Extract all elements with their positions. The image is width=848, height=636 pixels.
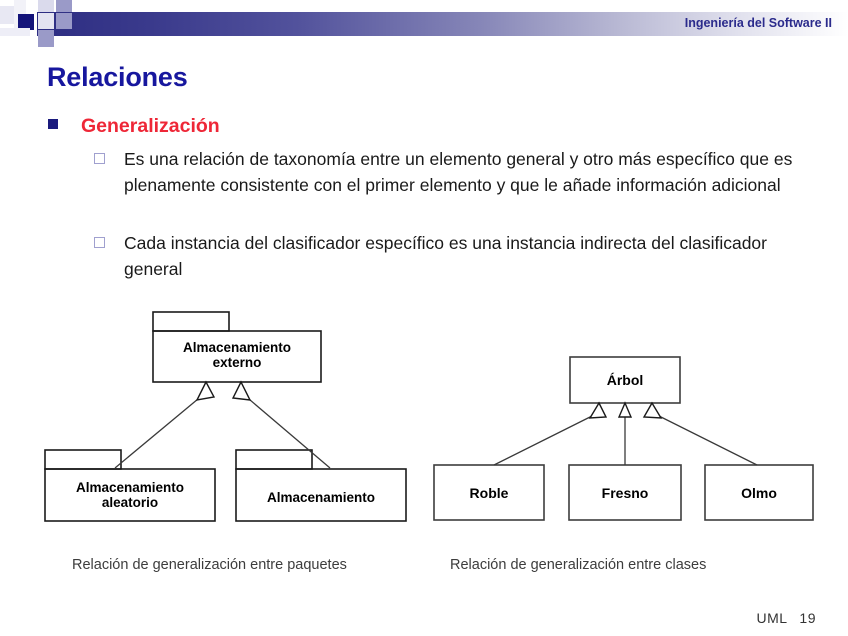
footer-label: UML <box>756 610 787 626</box>
page-title: Relaciones <box>47 62 188 93</box>
header-decor-square-7 <box>38 30 54 47</box>
diagrams-container: Almacenamiento externo Almacenamiento al… <box>0 290 848 590</box>
course-title: Ingeniería del Software II <box>685 16 832 30</box>
header-decor-square-3 <box>38 0 54 12</box>
package-child1-label-line2: aleatorio <box>102 495 158 510</box>
package-generalization-line-1 <box>115 394 204 468</box>
class-child2-label: Fresno <box>602 485 649 501</box>
slide-footer: UML 19 <box>756 610 816 626</box>
slide-page-number: 19 <box>799 610 816 626</box>
package-parent-label-line1: Almacenamiento <box>183 340 291 355</box>
bullet-level1-generalizacion: Generalización <box>48 115 220 138</box>
package-generalization-arrowhead-2 <box>233 382 250 400</box>
bullet-level1-label: Generalización <box>81 115 220 138</box>
header-decor-square-8 <box>0 28 30 36</box>
class-diagram-caption: Relación de generalización entre clases <box>450 557 706 573</box>
header-decor-square-1 <box>0 6 14 24</box>
class-generalization-arrowhead-2 <box>619 403 631 417</box>
header-decor-square-4 <box>38 13 54 29</box>
bullet-level2-text: Es una relación de taxonomía entre un el… <box>124 146 814 198</box>
package-child1-tab <box>45 450 121 469</box>
filled-square-bullet-icon <box>48 119 58 129</box>
package-child2-tab <box>236 450 312 469</box>
class-child1-label: Roble <box>470 485 509 501</box>
package-diagram-caption: Relación de generalización entre paquete… <box>72 557 347 573</box>
bullet-level2-text: Cada instancia del clasificador específi… <box>124 230 814 282</box>
class-generalization-line-1 <box>494 414 596 465</box>
class-generalization-diagram: Árbol Roble Fresno Olmo <box>424 290 848 550</box>
package-generalization-line-2 <box>243 394 330 468</box>
package-parent-label-line2: externo <box>213 355 262 370</box>
bullet-level2-item-1: Es una relación de taxonomía entre un el… <box>94 146 814 198</box>
package-parent-tab <box>153 312 229 331</box>
hollow-square-bullet-icon <box>94 237 105 248</box>
package-child2-label-line1: Almacenamiento <box>267 490 375 505</box>
class-generalization-line-3 <box>655 414 757 465</box>
header-decor-square-5 <box>56 0 72 12</box>
class-child3-label: Olmo <box>741 485 777 501</box>
bullet-level2-item-2: Cada instancia del clasificador específi… <box>94 230 814 282</box>
class-parent-label: Árbol <box>607 372 644 388</box>
slide-header: Ingeniería del Software II <box>0 0 848 52</box>
class-generalization-arrowhead-1 <box>590 403 606 418</box>
package-generalization-arrowhead-1 <box>197 382 214 400</box>
package-generalization-diagram: Almacenamiento externo Almacenamiento al… <box>0 290 424 550</box>
header-decor-square-6 <box>56 13 72 29</box>
hollow-square-bullet-icon <box>94 153 105 164</box>
package-child1-label-line1: Almacenamiento <box>76 480 184 495</box>
class-generalization-arrowhead-3 <box>644 403 661 418</box>
